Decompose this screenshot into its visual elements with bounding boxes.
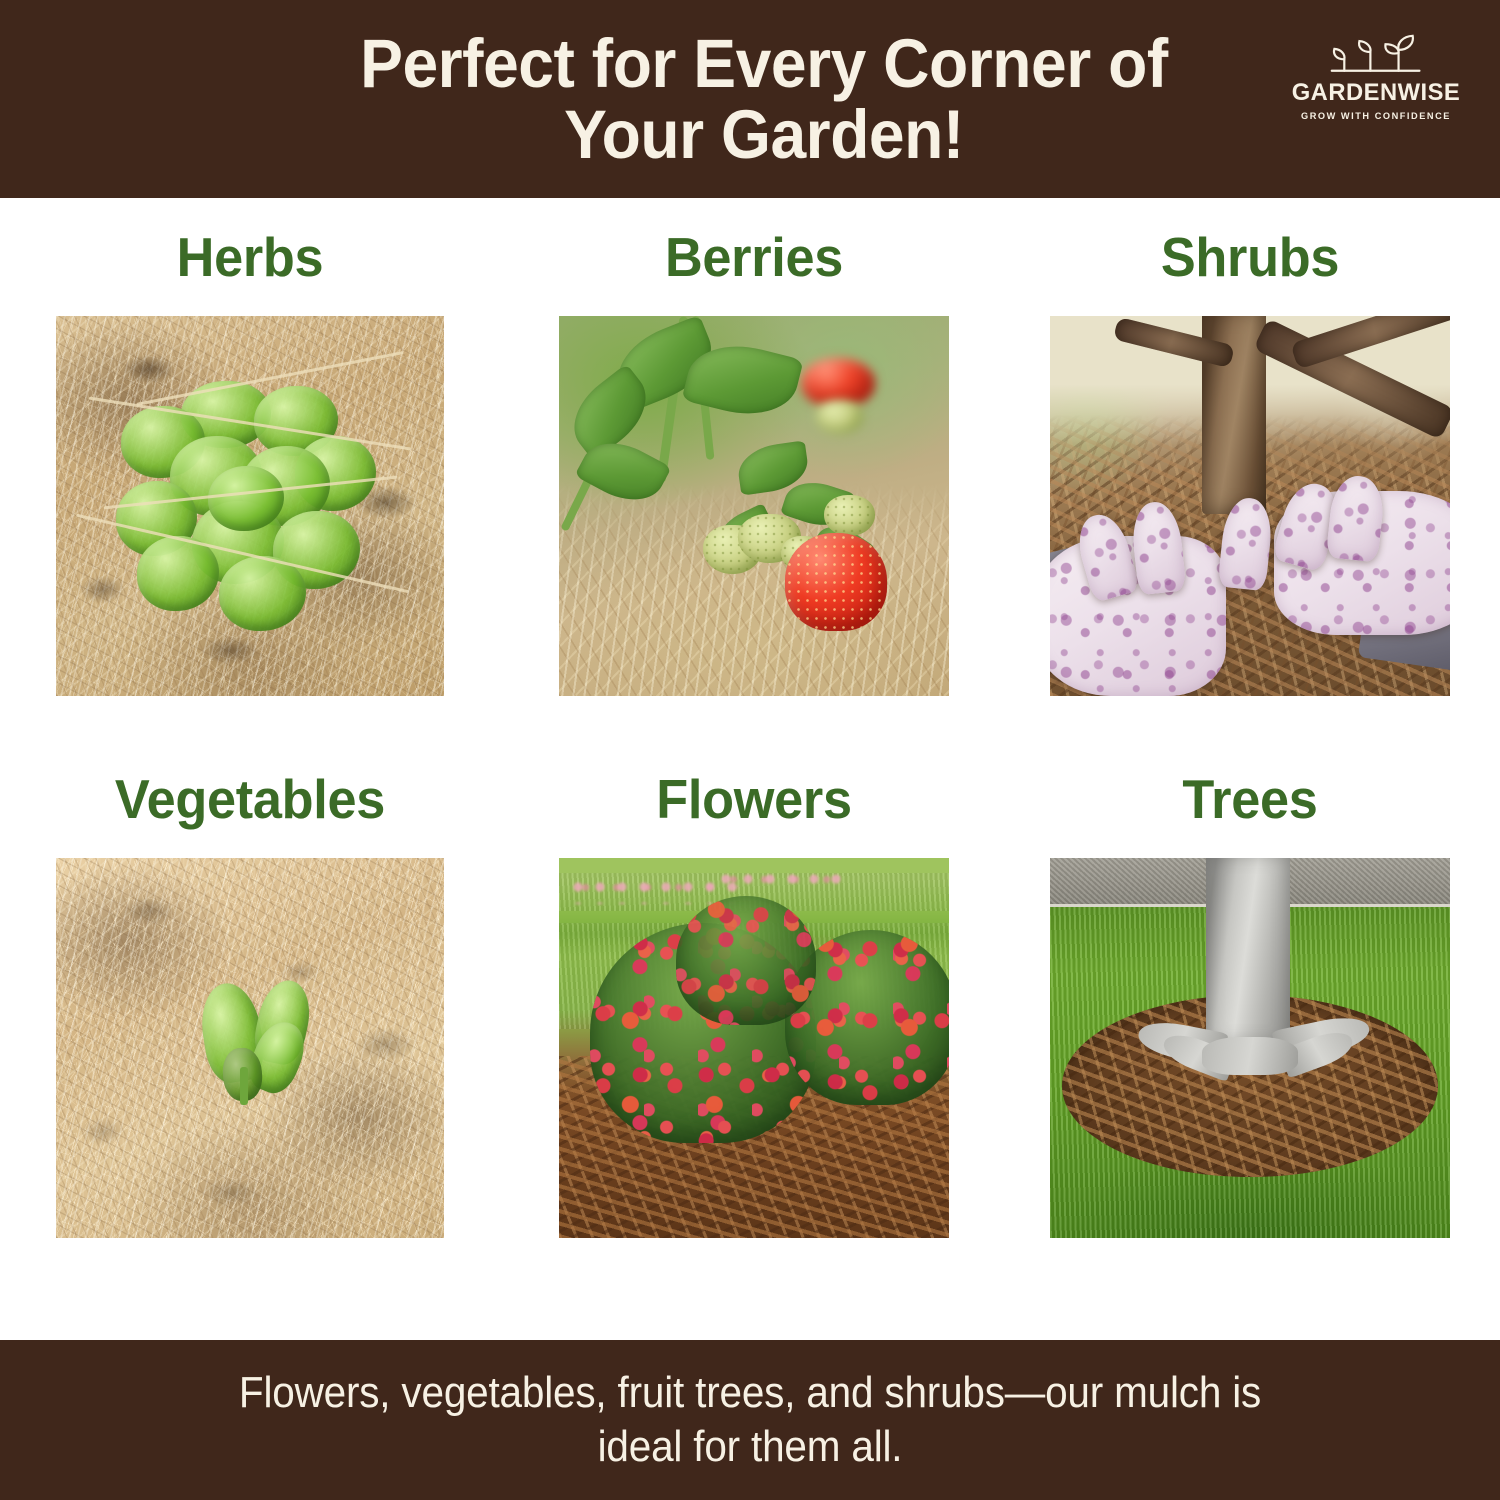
brand-tagline: GROW WITH CONFIDENCE — [1280, 111, 1472, 121]
category-label-berries: Berries — [564, 198, 944, 316]
category-photo-vegetables — [56, 858, 444, 1238]
category-photo-herbs — [56, 316, 444, 696]
category-photo-trees — [1050, 858, 1450, 1238]
footer-banner: Flowers, vegetables, fruit trees, and sh… — [0, 1340, 1500, 1500]
category-label-trees: Trees — [1060, 740, 1440, 858]
category-photo-shrubs — [1050, 316, 1450, 696]
brand-logo: GARDENWISE GROW WITH CONFIDENCE — [1280, 28, 1472, 121]
category-card-vegetables[interactable]: Vegetables — [50, 740, 450, 1238]
category-label-shrubs: Shrubs — [1060, 198, 1440, 316]
category-label-herbs: Herbs — [60, 198, 440, 316]
category-label-flowers: Flowers — [564, 740, 944, 858]
category-label-vegetables: Vegetables — [60, 740, 440, 858]
footer-tagline-line-1: Flowers, vegetables, fruit trees, and sh… — [143, 1366, 1357, 1420]
footer-tagline-line-2: ideal for them all. — [143, 1420, 1357, 1474]
page-title-line-1: Perfect for Every Corner of — [248, 28, 1280, 99]
category-card-trees[interactable]: Trees — [1050, 740, 1450, 1238]
header-banner: Perfect for Every Corner of Your Garden! — [0, 0, 1500, 198]
category-card-shrubs[interactable]: Shrubs — [1050, 198, 1450, 696]
category-photo-berries — [559, 316, 949, 696]
brand-wordmark: GARDENWISE — [1283, 79, 1469, 107]
lettuce-plant-graphic — [110, 381, 382, 632]
page-title: Perfect for Every Corner of Your Garden! — [220, 28, 1280, 170]
category-card-herbs[interactable]: Herbs — [50, 198, 450, 696]
category-photo-flowers — [559, 858, 949, 1238]
footer-tagline: Flowers, vegetables, fruit trees, and sh… — [143, 1366, 1357, 1473]
three-sprouts-icon — [1313, 28, 1438, 76]
category-grid: Herbs — [0, 198, 1500, 1340]
category-card-flowers[interactable]: Flowers — [554, 740, 954, 1238]
category-card-berries[interactable]: Berries — [554, 198, 954, 696]
page-title-line-2: Your Garden! — [248, 99, 1280, 170]
